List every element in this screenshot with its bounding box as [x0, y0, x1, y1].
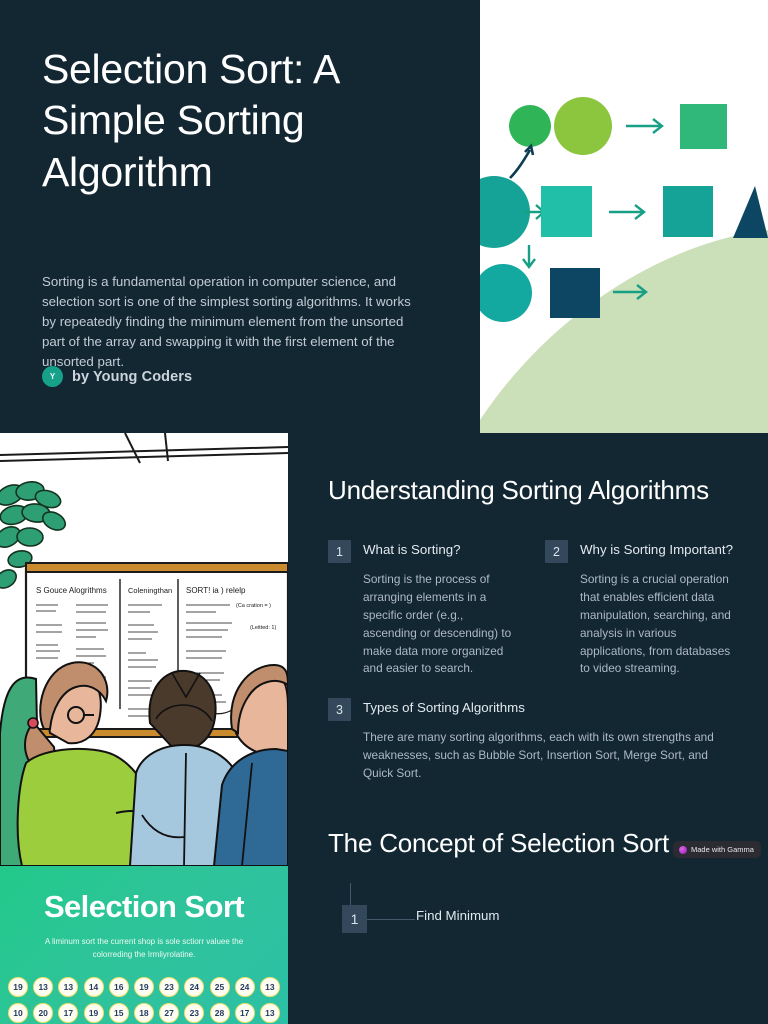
number-chip: 20: [33, 1003, 53, 1023]
item-body: Sorting is a crucial operation that enab…: [580, 571, 736, 678]
number-chip: 24: [184, 977, 204, 997]
avatar: Y: [42, 366, 63, 387]
timeline: 1 Find Minimum: [328, 891, 736, 951]
number-chip: 19: [8, 977, 28, 997]
item-header: 2 Why is Sorting Important?: [545, 540, 736, 563]
number-chip: 10: [8, 1003, 28, 1023]
number-chip: 23: [159, 977, 179, 997]
number-chip: 17: [235, 1003, 255, 1023]
section-understanding-sorting: Understanding Sorting Algorithms 1 What …: [328, 433, 736, 782]
number-chip: 25: [210, 977, 230, 997]
hero-section: Selection Sort: A Simple Sorting Algorit…: [0, 0, 768, 433]
infographic-title: Selection Sort: [0, 889, 288, 925]
item-header: 1 What is Sorting?: [328, 540, 519, 563]
number-chip: 24: [235, 977, 255, 997]
whiteboard-illustration: S Gouce Alogrithms Coleningthan SORT! ia…: [0, 433, 288, 866]
number-chip: 18: [134, 1003, 154, 1023]
numbered-items-grid: 1 What is Sorting? Sorting is the proces…: [328, 540, 736, 678]
timeline-step-label: Find Minimum: [416, 908, 500, 923]
number-chip: 27: [159, 1003, 179, 1023]
item-number-badge: 1: [328, 540, 351, 563]
page-title: Selection Sort: A Simple Sorting Algorit…: [42, 44, 442, 198]
number-chip: 23: [184, 1003, 204, 1023]
item-title: Types of Sorting Algorithms: [363, 698, 525, 716]
item-number-badge: 3: [328, 698, 351, 721]
item-body: Sorting is the process of arranging elem…: [363, 571, 519, 678]
svg-text:(Leitted: 1): (Leitted: 1): [250, 625, 276, 631]
gamma-badge-label: Made with Gamma: [691, 845, 754, 854]
content-area: S Gouce Alogrithms Coleningthan SORT! ia…: [0, 433, 768, 1024]
chip-row: 19 13 13 14 16 19 23 24 25 24 13: [8, 977, 280, 997]
number-chip: 19: [84, 1003, 104, 1023]
made-with-gamma-badge[interactable]: Made with Gamma: [673, 841, 761, 858]
numbered-item: 1 What is Sorting? Sorting is the proces…: [328, 540, 519, 678]
hero-text-block: Selection Sort: A Simple Sorting Algorit…: [42, 44, 442, 198]
number-chip: 14: [84, 977, 104, 997]
svg-text:Coleningthan: Coleningthan: [128, 586, 172, 595]
selection-sort-infographic: Selection Sort A liminum sort the curren…: [0, 866, 288, 1024]
item-title: Why is Sorting Important?: [580, 540, 733, 558]
timeline-step-number: 1: [342, 905, 367, 933]
number-chip: 17: [58, 1003, 78, 1023]
item-title: What is Sorting?: [363, 540, 461, 558]
section-concept-of-selection-sort: The Concept of Selection Sort 1 Find Min…: [328, 782, 736, 950]
chip-row: 10 20 17 19 15 18 27 23 28 17 13: [8, 1003, 280, 1023]
section-heading: Understanding Sorting Algorithms: [328, 473, 736, 507]
right-content-column: Understanding Sorting Algorithms 1 What …: [328, 433, 736, 951]
number-chip: 13: [33, 977, 53, 997]
item-header: 3 Types of Sorting Algorithms: [328, 698, 736, 721]
timeline-connector: [367, 919, 415, 920]
infographic-subtitle: A liminum sort the current shop is sole …: [0, 935, 288, 961]
svg-text:SORT! ia ) relelp: SORT! ia ) relelp: [186, 586, 246, 595]
hero-illustration: [480, 0, 768, 433]
number-chip: 16: [109, 977, 129, 997]
item-body: There are many sorting algorithms, each …: [363, 729, 731, 782]
number-chip-rows: 19 13 13 14 16 19 23 24 25 24 13 10 20 1…: [0, 977, 288, 1023]
left-media-column: S Gouce Alogrithms Coleningthan SORT! ia…: [0, 433, 288, 1024]
author-name: by Young Coders: [72, 369, 192, 385]
svg-text:(Ca cration = ): (Ca cration = ): [236, 603, 271, 609]
numbered-item: 2 Why is Sorting Important? Sorting is a…: [545, 540, 736, 678]
svg-text:S Gouce Alogrithms: S Gouce Alogrithms: [36, 586, 107, 595]
number-chip: 19: [134, 977, 154, 997]
number-chip: 13: [260, 1003, 280, 1023]
hero-description: Sorting is a fundamental operation in co…: [42, 272, 427, 372]
item-number-badge: 2: [545, 540, 568, 563]
timeline-stem: [350, 883, 351, 905]
byline: Y by Young Coders: [42, 366, 192, 387]
number-chip: 15: [109, 1003, 129, 1023]
numbered-item: 3 Types of Sorting Algorithms There are …: [328, 698, 736, 782]
number-chip: 13: [58, 977, 78, 997]
number-chip: 28: [210, 1003, 230, 1023]
gamma-logo-icon: [679, 846, 687, 854]
number-chip: 13: [260, 977, 280, 997]
